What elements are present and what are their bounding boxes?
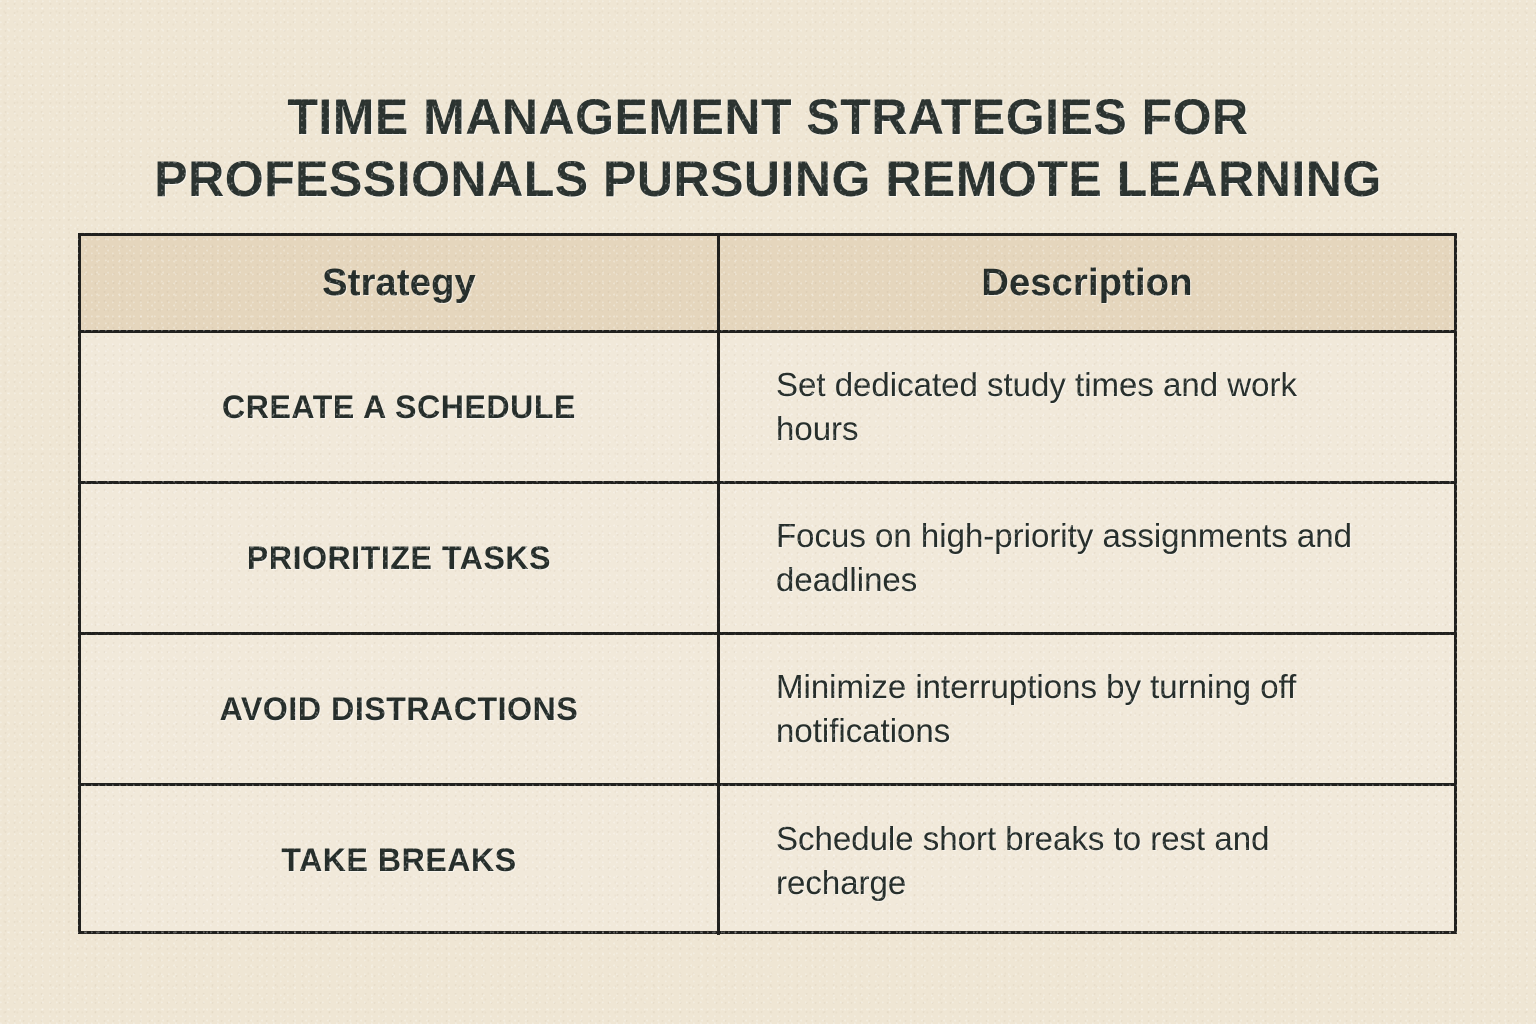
table-header-row: Strategy Description [81, 236, 1454, 333]
page-title: TIME MANAGEMENT STRATEGIES FOR PROFESSIO… [0, 86, 1536, 210]
table-cell-description: Set dedicated study times and work hours [720, 333, 1454, 481]
table-cell-description: Minimize interruptions by turning off no… [720, 635, 1454, 783]
table-cell-strategy: TAKE BREAKS [81, 786, 720, 935]
strategy-label: TAKE BREAKS [281, 841, 516, 879]
page-title-line-1: TIME MANAGEMENT STRATEGIES FOR [90, 86, 1446, 148]
description-text: Schedule short breaks to rest and rechar… [776, 817, 1356, 904]
table-cell-strategy: CREATE A SCHEDULE [81, 333, 720, 481]
page-title-line-2: PROFESSIONALS PURSUING REMOTE LEARNING [90, 148, 1446, 210]
table-row: AVOID DISTRACTIONS Minimize interruption… [81, 635, 1454, 786]
strategy-label: CREATE A SCHEDULE [222, 388, 576, 426]
description-text: Focus on high-priority assignments and d… [776, 514, 1356, 601]
strategy-label: AVOID DISTRACTIONS [220, 690, 579, 728]
description-text: Minimize interruptions by turning off no… [776, 665, 1356, 752]
table-cell-description: Schedule short breaks to rest and rechar… [720, 786, 1454, 935]
column-header-strategy: Strategy [322, 262, 476, 305]
table-cell-strategy: AVOID DISTRACTIONS [81, 635, 720, 783]
table-header-cell-description: Description [720, 236, 1454, 330]
table-row: CREATE A SCHEDULE Set dedicated study ti… [81, 333, 1454, 484]
column-header-description: Description [981, 262, 1192, 305]
table-header-cell-strategy: Strategy [81, 236, 720, 330]
table-row: TAKE BREAKS Schedule short breaks to res… [81, 786, 1454, 935]
table-cell-strategy: PRIORITIZE TASKS [81, 484, 720, 632]
infographic-page: TIME MANAGEMENT STRATEGIES FOR PROFESSIO… [0, 0, 1536, 1024]
strategies-table: Strategy Description CREATE A SCHEDULE S… [78, 233, 1457, 934]
description-text: Set dedicated study times and work hours [776, 363, 1356, 450]
strategy-label: PRIORITIZE TASKS [247, 539, 551, 577]
table-cell-description: Focus on high-priority assignments and d… [720, 484, 1454, 632]
table-row: PRIORITIZE TASKS Focus on high-priority … [81, 484, 1454, 635]
